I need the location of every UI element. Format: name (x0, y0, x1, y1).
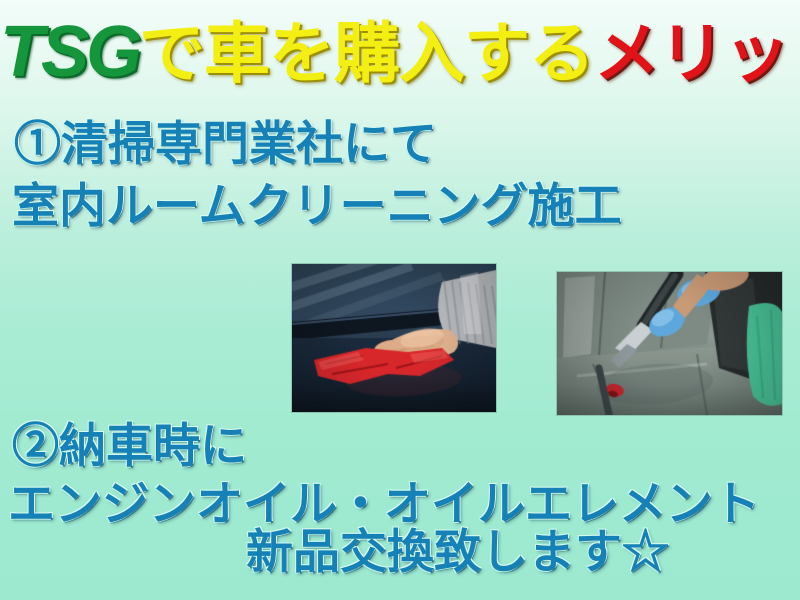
title-segment-brand: TSG (0, 12, 139, 92)
page-title: TSGで車を購入するメリット (0, 10, 800, 95)
slide-canvas: TSGで車を購入するメリット ①清掃専門業社にて 室内ルームクリーニング施工 ②… (0, 0, 800, 600)
benefit-one-line-1: ①清掃専門業社にて (14, 116, 437, 172)
benefit-two-line-3: 新品交換致します☆ (246, 524, 669, 580)
title-segment-phrase: で車を購入する (139, 16, 594, 90)
car-polishing-photo (292, 264, 496, 412)
interior-cleaning-photo (557, 272, 782, 415)
title-segment-benefit: メリット (594, 16, 800, 90)
interior-cleaning-photo-canvas (557, 272, 782, 415)
benefit-one-line-2: 室内ルームクリーニング施工 (12, 178, 622, 234)
car-polishing-photo-canvas (292, 264, 496, 412)
benefit-two-line-1: ②納車時に (12, 418, 247, 474)
